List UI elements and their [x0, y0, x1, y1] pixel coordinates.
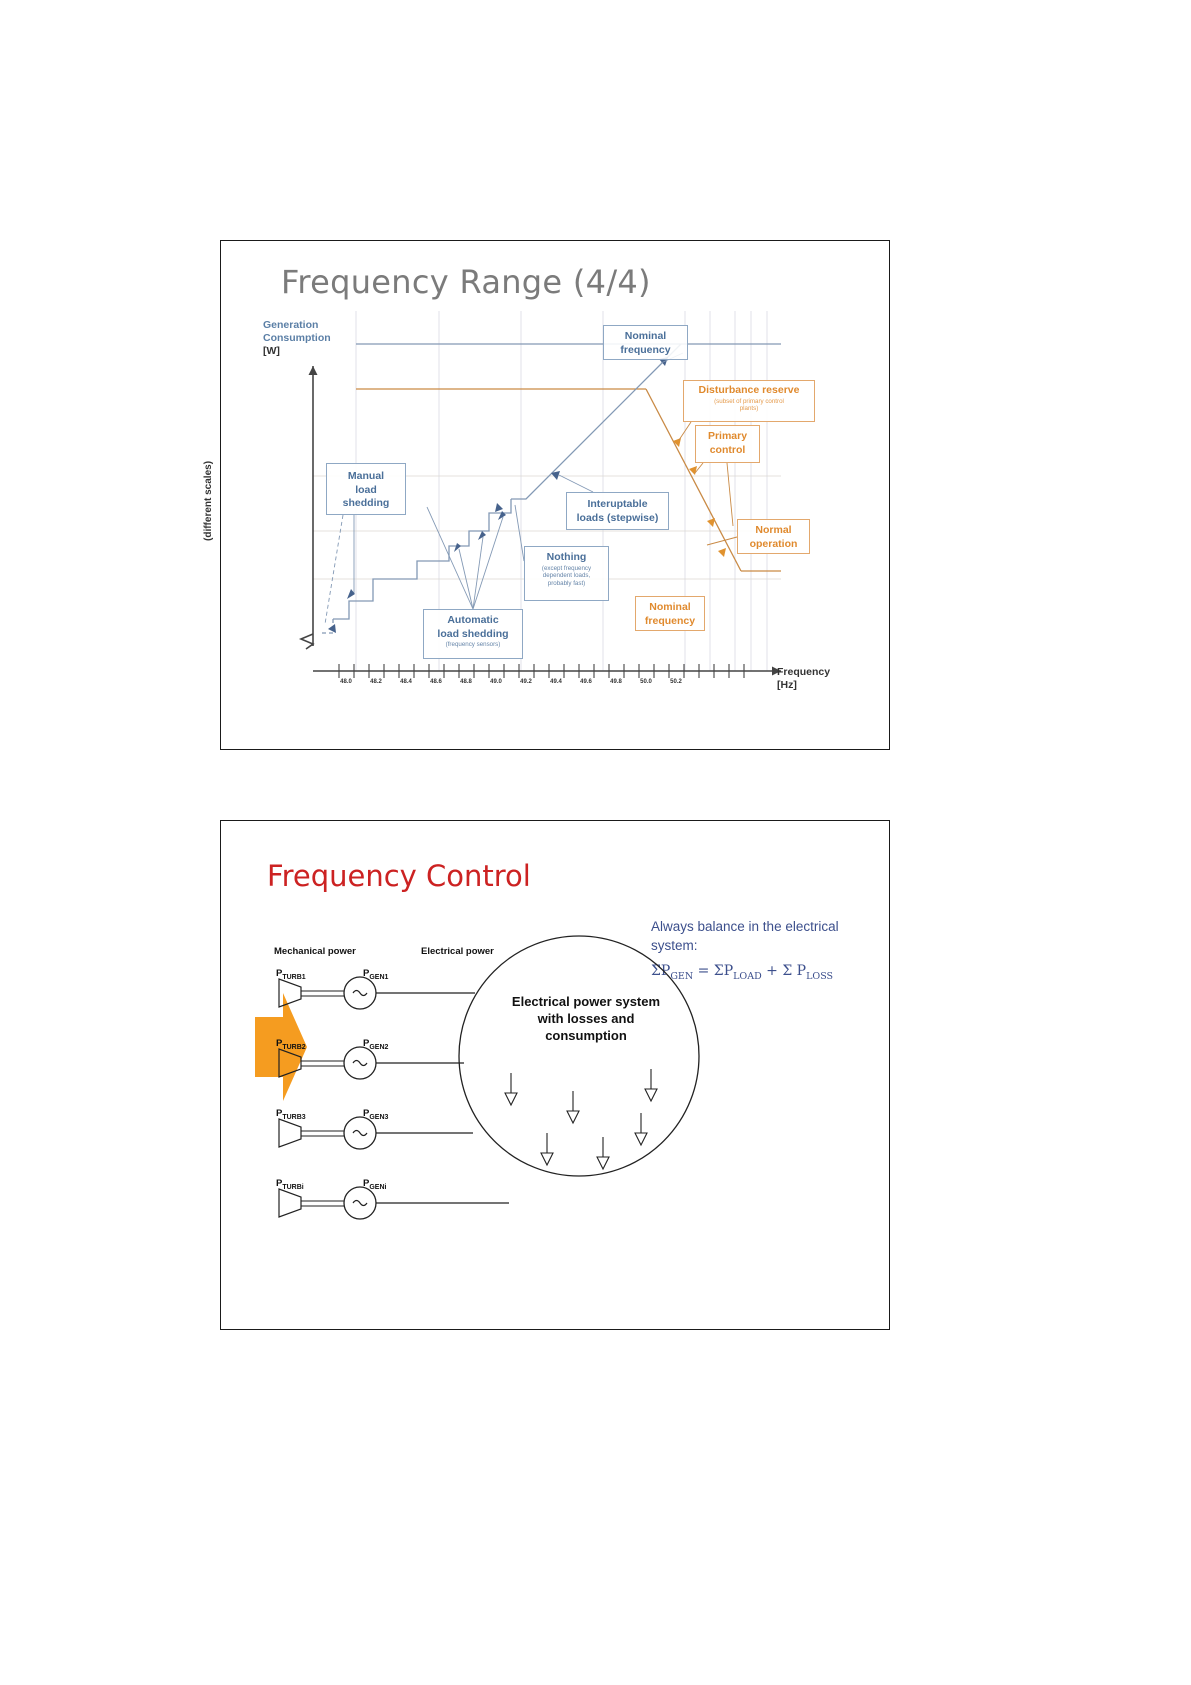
callout-manual-load-shedding: Manual load shedding: [326, 463, 406, 515]
callout-subline: (frequency sensors): [424, 641, 522, 649]
callout-line: Nominal: [636, 601, 704, 615]
label-p-gen3: PGEN3: [363, 1108, 388, 1121]
x-tick-label: 49.4: [550, 679, 562, 685]
x-tick-label: 49.8: [610, 679, 622, 685]
callout-line: Normal: [738, 524, 809, 538]
slide-frequency-range: Frequency Range (4/4): [220, 240, 890, 750]
callout-subline: plants): [684, 405, 814, 413]
label-p-gen2: PGEN2: [363, 1038, 388, 1051]
generator-row-2: [279, 1047, 464, 1079]
callout-line: Automatic: [424, 614, 522, 628]
callout-interruptable-loads: Interuptable loads (stepwise): [566, 492, 669, 530]
x-tick-label: 50.0: [640, 679, 652, 685]
y-axis-line1: Generation: [263, 319, 358, 332]
label-p-gen1: PGEN1: [363, 968, 388, 981]
callout-line: frequency: [636, 615, 704, 629]
callout-line: control: [696, 444, 759, 458]
callout-automatic-load-shedding: Automatic load shedding (frequency senso…: [423, 609, 523, 659]
label-p-turbi: PTURBi: [276, 1178, 304, 1191]
label-p-turb1: PTURB1: [276, 968, 306, 981]
callout-line: Primary: [696, 430, 759, 444]
generator-row-1: [279, 977, 475, 1009]
slide-frequency-control: Frequency Control Always balance in the …: [220, 820, 890, 1330]
generator-row-3: [279, 1117, 473, 1149]
y-axis-line2: Consumption: [263, 332, 358, 345]
y-axis-label: Generation Consumption [W]: [263, 319, 358, 358]
y-axis-unit: [W]: [263, 345, 358, 358]
callout-nothing: Nothing (except frequency dependent load…: [524, 546, 609, 601]
callout-line: Disturbance reserve: [684, 384, 814, 398]
power-system-label: Electrical power system with losses and …: [506, 993, 666, 1044]
generator-row-i: [279, 1187, 509, 1219]
callout-primary-control: Primary control: [695, 425, 760, 463]
x-axis-label-line1: Frequency: [777, 666, 830, 679]
callout-subline: (subset of primary control: [684, 398, 814, 406]
callout-line: Nominal: [604, 330, 687, 344]
callout-line: loads (stepwise): [567, 512, 668, 526]
x-axis-label-line2: [Hz]: [777, 679, 830, 692]
callout-subline: dependent loads,: [525, 572, 608, 580]
x-tick-label: 49.0: [490, 679, 502, 685]
label-p-geni: PGENi: [363, 1178, 386, 1191]
label-p-turb2: PTURB2: [276, 1038, 306, 1051]
x-tick-label: 48.4: [400, 679, 412, 685]
callout-normal-operation: Normal operation: [737, 519, 810, 554]
frequency-control-diagram: [221, 821, 891, 1331]
callout-line: load: [327, 484, 405, 498]
callout-subline: probably fast): [525, 580, 608, 588]
x-tick-label: 50.2: [670, 679, 682, 685]
callout-line: Nothing: [525, 551, 608, 565]
callout-nominal-frequency-top: Nominal frequency: [603, 325, 688, 360]
x-axis-label: Frequency [Hz]: [777, 666, 830, 692]
callout-line: operation: [738, 538, 809, 552]
power-system-circle: [459, 936, 699, 1176]
callout-line: shedding: [327, 497, 405, 511]
callout-line: frequency: [604, 344, 687, 358]
callout-line: load shedding: [424, 628, 522, 642]
callout-line: Interuptable: [567, 498, 668, 512]
x-tick-label: 49.6: [580, 679, 592, 685]
load-arrows: [505, 1069, 657, 1169]
x-tick-label: 48.2: [370, 679, 382, 685]
label-p-turb3: PTURB3: [276, 1108, 306, 1121]
callout-line: Manual: [327, 470, 405, 484]
x-tick-label: 48.6: [430, 679, 442, 685]
x-tick-label: 48.8: [460, 679, 472, 685]
callout-disturbance-reserve: Disturbance reserve (subset of primary c…: [683, 380, 815, 422]
callout-nominal-frequency-bottom: Nominal frequency: [635, 596, 705, 631]
x-tick-label: 49.2: [520, 679, 532, 685]
callout-subline: (except frequency: [525, 565, 608, 573]
y-axis-side-note: (different scales): [203, 461, 214, 541]
x-tick-label: 48.0: [340, 679, 352, 685]
